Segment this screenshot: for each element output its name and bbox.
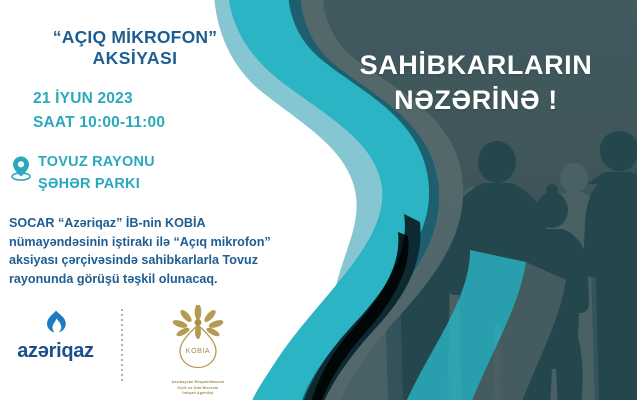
event-description-line-3: aksiyası çərçivəsində sahibkarlarla Tovu… (9, 251, 327, 270)
dotted-vertical-divider (121, 309, 123, 381)
kobia-flower-drop-icon: KOBİA (167, 305, 229, 378)
event-location-line-2: ŞƏHƏR PARKI (38, 174, 155, 196)
kobia-flower-petals (172, 305, 224, 339)
svg-text:KOBİA: KOBİA (186, 346, 210, 355)
azeriqaz-logo: azəriqaz (8, 305, 103, 361)
gas-flame-icon (43, 309, 69, 340)
map-pin-icon (10, 155, 32, 186)
logo-row: azəriqaz (8, 305, 308, 395)
main-headline-line-1: SAHİBKARLARIN (331, 48, 621, 83)
kobia-subtitle-line-1: Azərbaycan Respublikasının (172, 380, 225, 386)
event-datetime: 21 İYUN 2023 SAAT 10:00-11:00 (33, 87, 165, 136)
left-content-column: “AÇIQ MİKROFON” AKSİYASI 21 İYUN 2023 SA… (0, 0, 340, 400)
main-headline-line-2: NƏZƏRİNƏ ! (331, 83, 621, 118)
kobia-logo: KOBİA Azərbaycan Respublikasının Kiçik v… (143, 305, 253, 397)
kobia-subtitle-line-3: İnkişafı Agentliyi (172, 391, 225, 397)
event-description: SOCAR “Azəriqaz” İB-nin KOBİA nümayəndəs… (9, 214, 327, 289)
azeriqaz-wordmark: azəriqaz (17, 341, 94, 361)
main-headline: SAHİBKARLARIN NƏZƏRİNƏ ! (331, 48, 621, 117)
event-location: TOVUZ RAYONU ŞƏHƏR PARKI (10, 152, 155, 196)
event-location-text: TOVUZ RAYONU ŞƏHƏR PARKI (38, 152, 155, 196)
event-description-line-2: nümayəndəsinin iştirakı ilə “Açıq mikrof… (9, 233, 327, 252)
kobia-subtitle: Azərbaycan Respublikasının Kiçik və Orta… (172, 380, 225, 397)
event-time: SAAT 10:00-11:00 (33, 111, 165, 135)
poster-announcement: “AÇIQ MİKROFON” AKSİYASI 21 İYUN 2023 SA… (0, 0, 637, 400)
event-title: “AÇIQ MİKROFON” AKSİYASI (10, 27, 260, 70)
event-title-line-2: AKSİYASI (10, 48, 260, 69)
event-date: 21 İYUN 2023 (33, 87, 165, 111)
event-location-line-1: TOVUZ RAYONU (38, 152, 155, 174)
event-title-line-1: “AÇIQ MİKROFON” (10, 27, 260, 48)
event-description-line-4: rayonunda görüşü təşkil olunacaq. (9, 270, 327, 289)
event-description-line-1: SOCAR “Azəriqaz” İB-nin KOBİA (9, 214, 327, 233)
